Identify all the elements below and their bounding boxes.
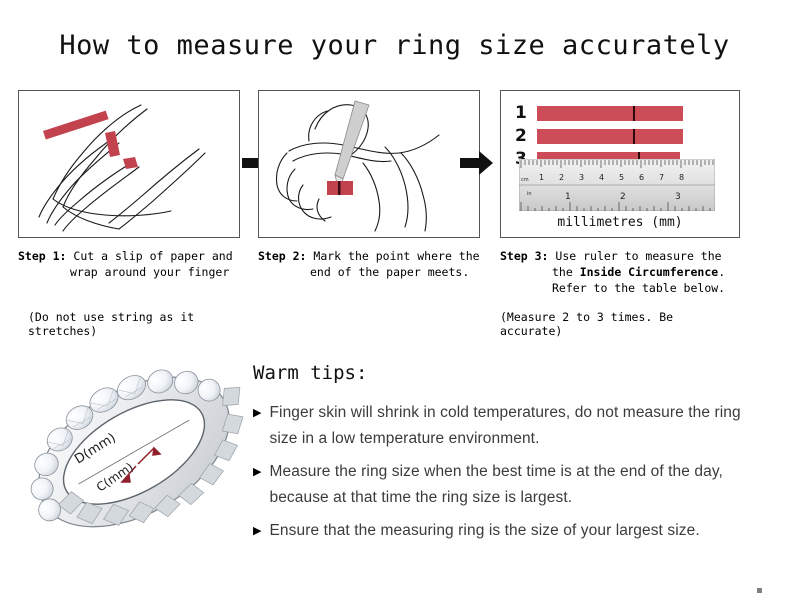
svg-text:3: 3 (579, 173, 584, 182)
diamond-eternity-ring-icon: D(mm) C(mm) (18, 352, 250, 557)
warm-tips-block: Warm tips: ▶ Finger skin will shrink in … (253, 362, 773, 551)
svg-text:3: 3 (675, 192, 681, 202)
steps-row: Step 1: Cut a slip of paper and wrap aro… (18, 90, 770, 335)
triangle-bullet-icon: ▶ (253, 400, 261, 426)
step-column-1: Step 1: Cut a slip of paper and wrap aro… (18, 90, 240, 338)
step-2-label: Step 2: (258, 249, 306, 263)
paper-strip-1 (537, 106, 683, 121)
step-1-label: Step 1: (18, 249, 66, 263)
step-column-2: Step 2: Mark the point where the end of … (258, 90, 480, 280)
hand-with-paper-strip-icon (19, 91, 239, 237)
step-1-note: (Do not use string as it stretches) (28, 310, 240, 338)
step-1-caption: Step 1: Cut a slip of paper and wrap aro… (18, 248, 240, 280)
ruler-icon: 12 34 56 78 cm 123 in (519, 159, 715, 211)
svg-text:1: 1 (539, 173, 544, 182)
step-3-line2: the Inside Circumference. (500, 264, 740, 280)
hand-marking-paper-icon (259, 91, 479, 237)
strip-number-2: 2 (515, 126, 531, 146)
step-2-line1: Mark the point where the (313, 249, 479, 263)
right-arrow-icon (460, 148, 494, 178)
tip-text: Measure the ring size when the best time… (269, 459, 773, 511)
svg-text:8: 8 (679, 173, 684, 182)
step-3-inside-circumference: Inside Circumference (580, 265, 718, 279)
step-3-label: Step 3: (500, 249, 548, 263)
step-3-line2-prefix: the (552, 265, 580, 279)
strip-mark-2 (633, 129, 635, 144)
page-title: How to measure your ring size accurately (0, 30, 789, 61)
step-3-line1: Use ruler to measure the (555, 249, 721, 263)
svg-text:in: in (527, 191, 532, 197)
image-artifact (757, 588, 762, 593)
svg-text:2: 2 (620, 192, 626, 202)
svg-text:5: 5 (619, 173, 624, 182)
step-1-illustration-panel (18, 90, 240, 238)
ring-diagram: D(mm) C(mm) (18, 352, 250, 557)
warm-tips-heading: Warm tips: (253, 362, 773, 384)
step-3-caption: Step 3: Use ruler to measure the the Ins… (500, 248, 740, 296)
tip-text: Ensure that the measuring ring is the si… (269, 518, 699, 544)
ruler-unit-label: millimetres (mm) (501, 215, 739, 230)
svg-text:7: 7 (659, 173, 664, 182)
measured-strip-row-2: 2 (515, 126, 683, 146)
svg-text:1: 1 (565, 192, 571, 202)
triangle-bullet-icon: ▶ (253, 518, 261, 544)
step-1-line1: Cut a slip of paper and (73, 249, 232, 263)
step-3-line2-tail: . (718, 265, 725, 279)
tip-text: Finger skin will shrink in cold temperat… (269, 400, 773, 452)
ruler: 12 34 56 78 cm 123 in (519, 159, 715, 211)
arrow-step2-to-step3 (460, 148, 494, 178)
tip-item: ▶ Ensure that the measuring ring is the … (253, 518, 773, 544)
step-3-note: (Measure 2 to 3 times. Be accurate) (500, 310, 740, 338)
step-2-caption: Step 2: Mark the point where the end of … (258, 248, 480, 280)
svg-text:4: 4 (599, 173, 604, 182)
step-column-3: 1 2 3 (500, 90, 740, 338)
strip-mark-1 (633, 106, 635, 121)
lower-section: D(mm) C(mm) Warm tips: ▶ Finger skin wil… (0, 348, 789, 598)
svg-text:6: 6 (639, 173, 644, 182)
step-2-illustration-panel (258, 90, 480, 238)
step-1-line2: wrap around your finger (18, 264, 240, 280)
step-2-line2: end of the paper meets. (258, 264, 480, 280)
tip-item: ▶ Measure the ring size when the best ti… (253, 459, 773, 511)
strip-number-1: 1 (515, 103, 531, 123)
tip-item: ▶ Finger skin will shrink in cold temper… (253, 400, 773, 452)
triangle-bullet-icon: ▶ (253, 459, 261, 485)
step-3-line3: Refer to the table below. (500, 280, 740, 296)
measured-strip-row-1: 1 (515, 103, 683, 123)
paper-strip-2 (537, 129, 683, 144)
step-3-illustration-panel: 1 2 3 (500, 90, 740, 238)
svg-text:cm: cm (521, 177, 529, 183)
svg-text:2: 2 (559, 173, 564, 182)
